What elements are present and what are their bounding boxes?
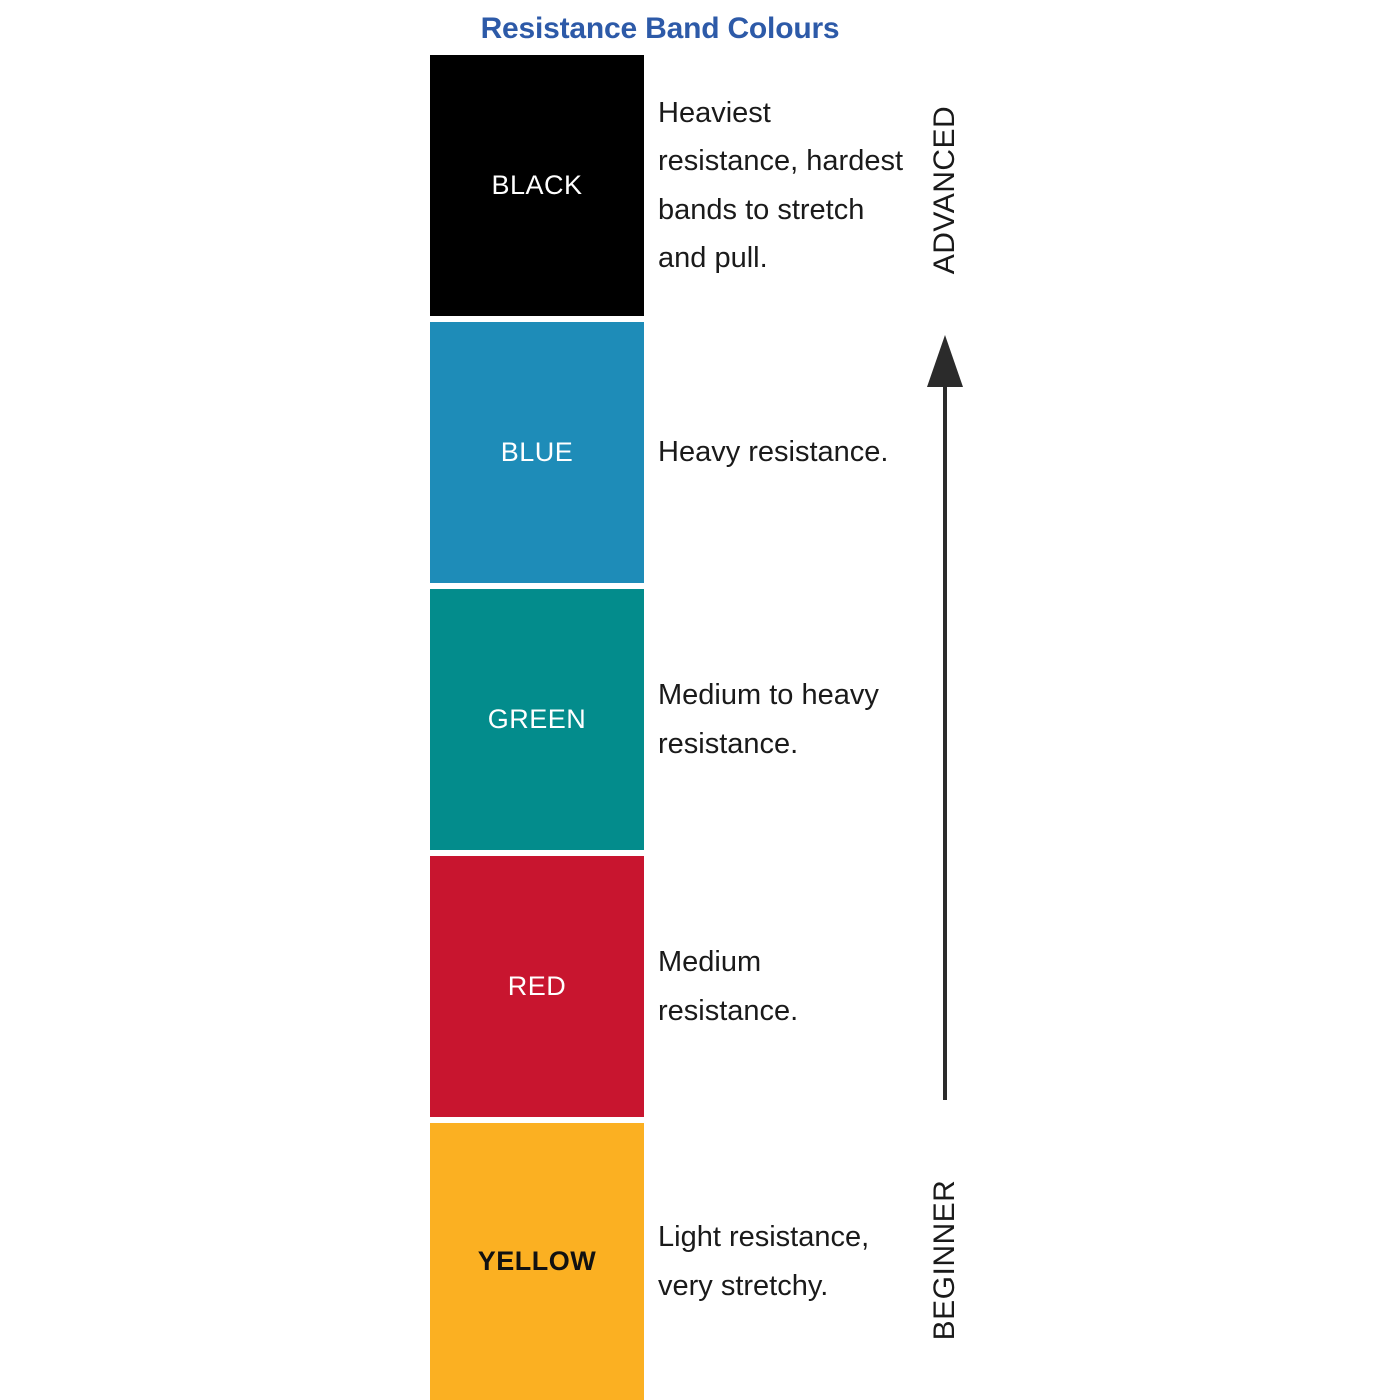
colour-swatch[interactable]: RED	[430, 856, 644, 1117]
band-row: BLUEHeavy resistance.	[430, 322, 920, 583]
colour-name-label: GREEN	[488, 706, 587, 733]
band-row: GREENMedium to heavy resistance.	[430, 589, 920, 850]
colour-swatch[interactable]: BLUE	[430, 322, 644, 583]
band-description: Medium resistance.	[658, 856, 908, 1117]
colour-name-label: BLACK	[491, 172, 582, 199]
colour-swatch[interactable]: GREEN	[430, 589, 644, 850]
scale-label-beginner: BEGINNER	[840, 1155, 1050, 1365]
colour-name-label: YELLOW	[478, 1248, 597, 1275]
up-arrow-icon	[925, 335, 965, 1100]
colour-name-label: RED	[508, 973, 567, 1000]
page-title: Resistance Band Colours	[0, 12, 1320, 46]
band-description: Medium to heavy resistance.	[658, 589, 908, 850]
colour-swatch[interactable]: BLACK	[430, 55, 644, 316]
band-description: Heavy resistance.	[658, 322, 908, 583]
colour-swatch[interactable]: YELLOW	[430, 1123, 644, 1400]
scale-label-advanced: ADVANCED	[840, 85, 1050, 295]
infographic-root: Resistance Band Colours BLACKHeaviest re…	[0, 0, 1400, 1400]
colour-name-label: BLUE	[501, 439, 574, 466]
difficulty-scale: ADVANCED BEGINNER	[880, 0, 1010, 1400]
band-row: REDMedium resistance.	[430, 856, 920, 1117]
